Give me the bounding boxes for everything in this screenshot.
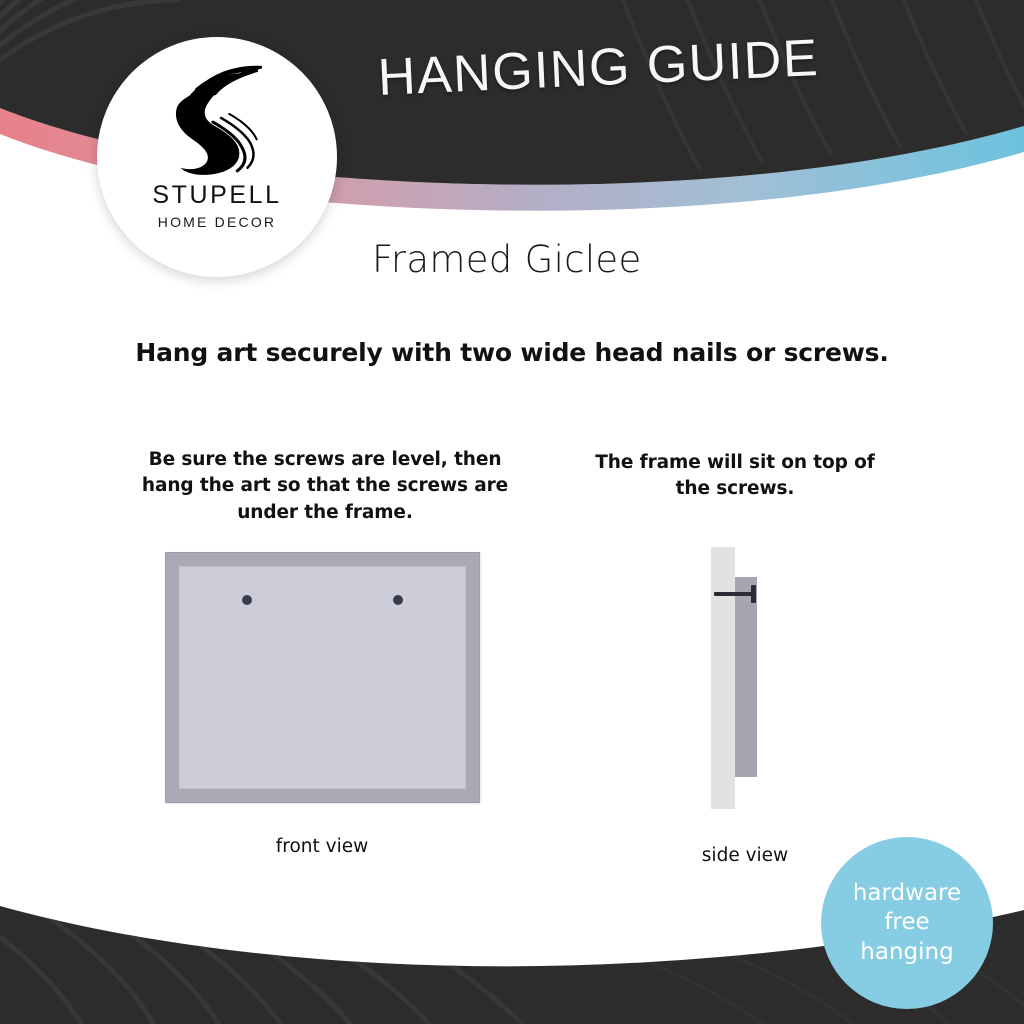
side-view-label: side view xyxy=(645,845,845,866)
front-view-diagram xyxy=(165,552,480,803)
screw-dot-right-icon xyxy=(393,595,403,605)
hanging-guide-page: STUPELL HOME DECOR HANGING GUIDE Framed … xyxy=(0,0,1024,1024)
brand-name: STUPELL xyxy=(152,181,281,210)
stupell-swoosh-logo-icon xyxy=(156,59,278,179)
main-instruction: Hang art securely with two wide head nai… xyxy=(0,338,1024,367)
hardware-free-hanging-badge: hardware free hanging xyxy=(821,837,993,1009)
badge-line-2: free xyxy=(884,908,929,937)
badge-line-1: hardware xyxy=(853,879,961,908)
side-view-caption: The frame will sit on top of the screws. xyxy=(590,450,880,503)
screw-dot-left-icon xyxy=(242,595,252,605)
nail-shaft-icon xyxy=(714,592,756,596)
nail-head-icon xyxy=(751,585,756,603)
brand-tagline: HOME DECOR xyxy=(158,214,276,230)
brand-logo-badge: STUPELL HOME DECOR xyxy=(97,37,337,277)
side-view-frame xyxy=(735,577,757,777)
side-view-wall xyxy=(711,547,735,809)
front-view-label: front view xyxy=(222,836,422,857)
product-name: Framed Giclee xyxy=(372,238,642,281)
badge-line-3: hanging xyxy=(860,938,953,967)
front-view-mat xyxy=(179,566,466,789)
front-view-caption: Be sure the screws are level, then hang … xyxy=(140,447,510,526)
page-title: HANGING GUIDE xyxy=(377,25,879,108)
side-view-diagram xyxy=(700,547,790,809)
